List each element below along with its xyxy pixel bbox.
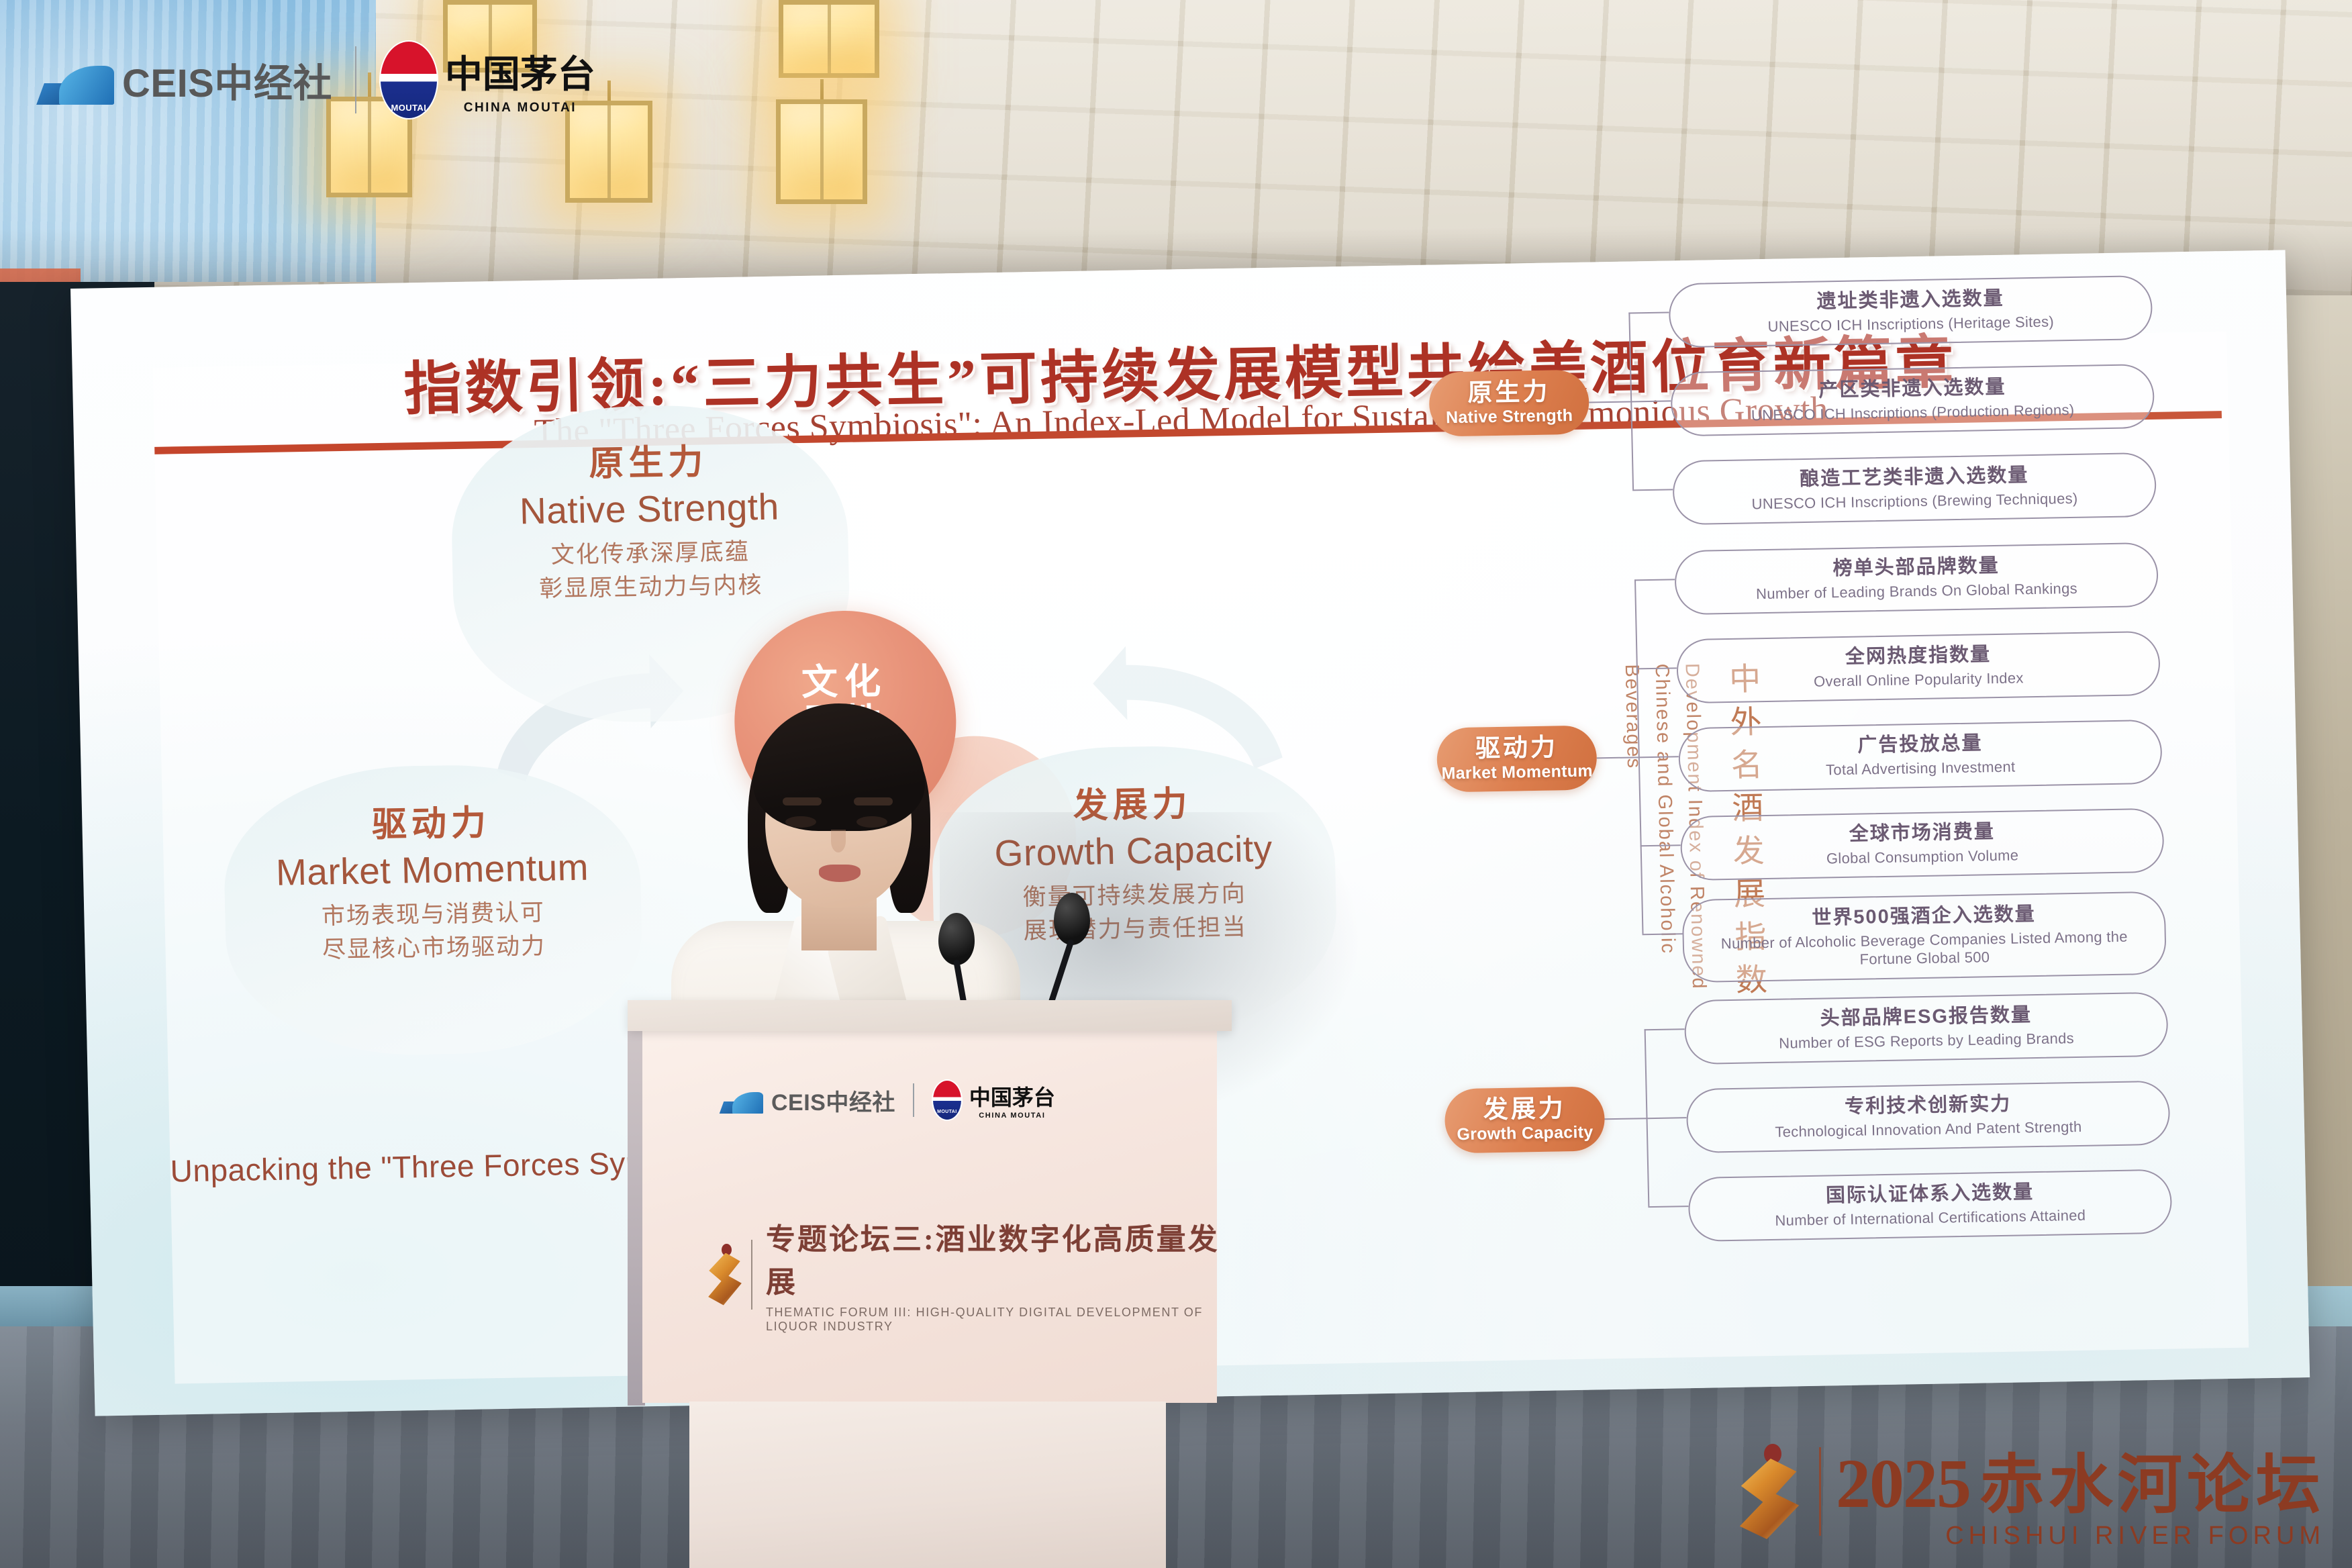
tree-leaf[interactable]: 遗址类非遗入选数量 UNESCO ICH Inscriptions (Herit… [1668, 275, 2153, 348]
forum-flame-icon [1734, 1441, 1804, 1542]
tree-leaf[interactable]: 国际认证体系入选数量 Number of International Certi… [1687, 1169, 2172, 1242]
speaker-brow-right [854, 797, 893, 805]
moutai-logo-en: CHINA MOUTAI [464, 101, 577, 115]
podium: CEIS中经社 MOUTAI 中国茅台 CHINA MOUTAI 专题论坛三:酒… [628, 1000, 1232, 1568]
microphone-head [1054, 893, 1090, 945]
model-blob-market-momentum: 驱动力 Market Momentum 市场表现与消费认可 尽显核心市场驱动力 [222, 762, 644, 1058]
tree-leaf[interactable]: 广告投放总量 Total Advertising Investment [1678, 720, 2163, 793]
tree-connector [1645, 1028, 1685, 1030]
tree-group-pill-growth-capacity[interactable]: 发展力 Growth Capacity [1444, 1086, 1606, 1153]
forum-logo-year: 2025 [1836, 1444, 1970, 1524]
moutai-badge-text: MOUTAI [391, 103, 427, 113]
blob-desc-line2: 彰显原生动力与内核 [452, 567, 849, 607]
podium-forum-title-cn: 专题论坛三:酒业数字化高质量发展 [766, 1215, 1232, 1301]
podium-top [628, 1000, 1232, 1031]
tree-connector [1638, 756, 1679, 758]
forum-flame-icon [705, 1242, 738, 1307]
ceis-logo-icon [722, 1085, 765, 1115]
ceis-logo: CEIS中经社 [40, 52, 332, 108]
speaker-hair [753, 703, 925, 831]
blob-title-cn: 原生力 [450, 431, 847, 488]
ceis-logo-text: CEIS中经社 [122, 52, 332, 108]
tree-group-pill-native-strength[interactable]: 原生力 Native Strength [1428, 370, 1589, 437]
tree-leaf[interactable]: 专利技术创新实力 Technological Innovation And Pa… [1686, 1081, 2171, 1154]
speaker-eye-left [785, 816, 816, 828]
blob-title-en: Native Strength [451, 484, 848, 534]
moutai-logo-cn: 中国茅台 [445, 44, 595, 99]
forum-logo-divider [1819, 1447, 1821, 1536]
microphone [938, 913, 975, 965]
pendant-lamp [779, 0, 879, 87]
pill-en: Market Momentum [1441, 761, 1593, 783]
header-logo-bar: CEIS中经社 MOUTAI 中国茅台 CHINA MOUTAI [40, 40, 595, 119]
tree-leaf[interactable]: 产区类非遗入选数量 UNESCO ICH Inscriptions (Produ… [1670, 364, 2155, 437]
blob-title-cn: 驱动力 [223, 791, 640, 849]
logo-divider [355, 46, 356, 113]
tree-leaf[interactable]: 头部品牌ESG报告数量 Number of ESG Reports by Lea… [1684, 992, 2169, 1065]
tree-leaf[interactable]: 榜单头部品牌数量 Number of Leading Brands On Glo… [1674, 542, 2159, 616]
tree-group-pill-market-momentum[interactable]: 驱动力 Market Momentum [1436, 725, 1598, 792]
tree-connector [1640, 844, 1681, 846]
index-indicator-tree: 原生力 Native Strength 遗址类非遗入选数量 UNESCO ICH… [1386, 250, 2310, 1393]
pill-cn: 原生力 [1467, 379, 1551, 407]
blob-title-en: Market Momentum [224, 844, 640, 895]
tree-leaf[interactable]: 全网热度指数量 Overall Online Popularity Index [1676, 631, 2161, 704]
moutai-badge-icon: MOUTAI [379, 40, 438, 119]
speaker-nose [831, 830, 846, 852]
moutai-badge-text: MOUTAI [937, 1110, 957, 1114]
moutai-logo: MOUTAI 中国茅台 CHINA MOUTAI [379, 40, 595, 119]
pill-en: Growth Capacity [1457, 1123, 1594, 1145]
tree-connector [1589, 401, 1630, 403]
moutai-logo-cn: 中国茅台 [969, 1081, 1055, 1112]
tree-connector [1648, 1206, 1688, 1208]
tree-connector [1643, 933, 1683, 935]
forum-logo-cn: 赤水河论坛 [1979, 1432, 2325, 1526]
tree-connector [1632, 489, 1673, 491]
leaf-en: Number of Alcoholic Beverage Companies L… [1695, 927, 2155, 972]
tree-leaf[interactable]: 酿造工艺类非遗入选数量 UNESCO ICH Inscriptions (Bre… [1672, 452, 2157, 526]
pendant-lamp [776, 79, 867, 228]
forum-divider [751, 1240, 752, 1310]
podium-forum-title-en: THEMATIC FORUM III: HIGH-QUALITY DIGITAL… [766, 1306, 1232, 1334]
ceis-logo-icon [40, 54, 115, 106]
speaker-brow-left [783, 797, 822, 805]
podium-logo-row: CEIS中经社 MOUTAI 中国茅台 CHINA MOUTAI [722, 1079, 1055, 1121]
logo-divider [913, 1083, 914, 1117]
microphone-head [938, 913, 975, 965]
tree-leaf[interactable]: 全球市场消费量 Global Consumption Volume [1680, 808, 2165, 881]
moutai-logo: MOUTAI 中国茅台 CHINA MOUTAI [932, 1079, 1055, 1121]
tree-connector [1647, 1117, 1687, 1119]
pill-cn: 驱动力 [1475, 735, 1559, 763]
tree-connector [1636, 667, 1677, 669]
tree-connector [1628, 311, 1669, 313]
podium-forum-banner: 专题论坛三:酒业数字化高质量发展 THEMATIC FORUM III: HIG… [705, 1215, 1232, 1334]
pill-en: Native Strength [1446, 406, 1573, 428]
tree-connector [1605, 1118, 1647, 1120]
chishui-river-forum-logo: 2025 赤水河论坛 CHISHUI RIVER FORUM [1734, 1432, 2325, 1551]
pill-cn: 发展力 [1483, 1095, 1566, 1123]
blob-desc-line2: 尽显核心市场驱动力 [226, 928, 642, 968]
tree-connector [1630, 400, 1671, 402]
podium-base [689, 1402, 1166, 1568]
moutai-logo-en: CHINA MOUTAI [979, 1112, 1045, 1120]
conference-room-scene: 指数引领:“三力共生”可持续发展模型共绘美酒位育新篇章 The "Three F… [0, 0, 2352, 1568]
moutai-badge-icon: MOUTAI [932, 1079, 963, 1121]
tree-connector [1597, 756, 1638, 758]
ceis-logo: CEIS中经社 [722, 1084, 895, 1117]
microphone [1054, 893, 1090, 945]
speaker-mouth [819, 865, 861, 882]
speaker-eye-right [856, 816, 887, 828]
forum-logo-en: CHISHUI RIVER FORUM [1836, 1522, 2325, 1551]
tree-leaf[interactable]: 世界500强酒企入选数量 Number of Alcoholic Beverag… [1681, 891, 2167, 983]
ceis-logo-text: CEIS中经社 [771, 1084, 895, 1117]
tree-connector [1634, 579, 1675, 581]
